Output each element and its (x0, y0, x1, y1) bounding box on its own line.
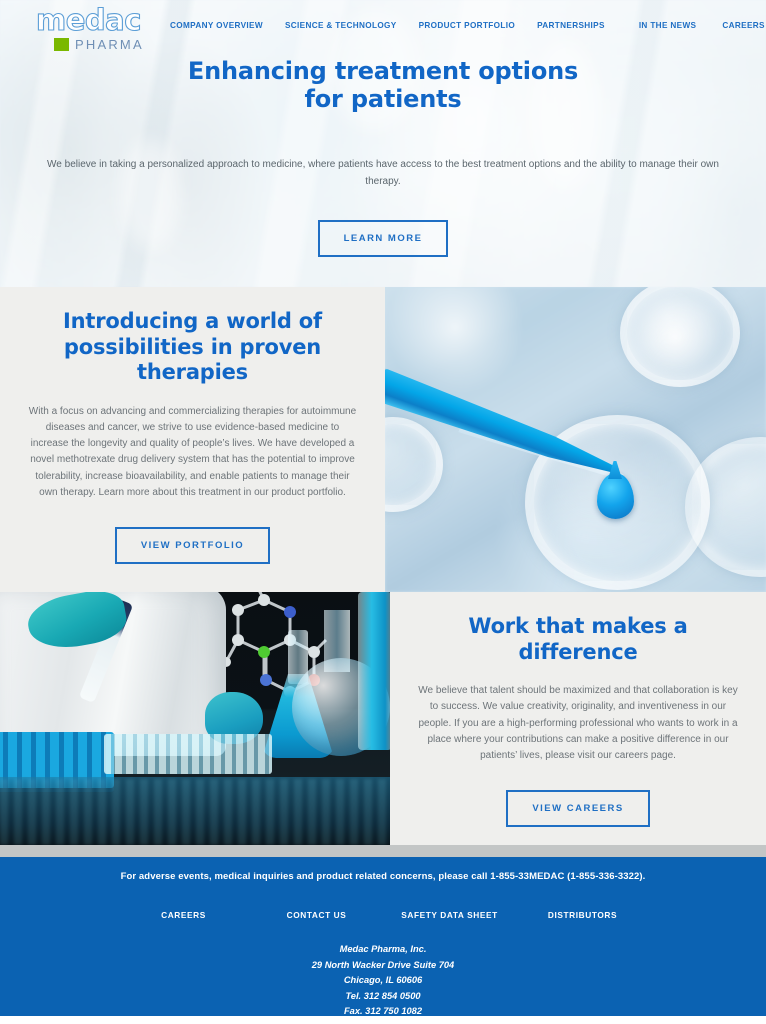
section-divider (0, 845, 766, 857)
page-root: medac PHARMA COMPANY OVERVIEW SCIENCE & … (0, 0, 766, 1024)
careers-text-column: Work that makes a difference We believe … (390, 592, 766, 845)
site-header: medac PHARMA COMPANY OVERVIEW SCIENCE & … (0, 0, 766, 52)
portfolio-image (385, 287, 766, 592)
brand-logo-pharma-text: PHARMA (75, 37, 144, 52)
brand-green-square-icon (54, 38, 69, 51)
nav-item-science-technology[interactable]: SCIENCE & TECHNOLOGY (285, 19, 397, 32)
nav-item-partnerships[interactable]: PARTNERSHIPS (537, 19, 605, 32)
footer-link-careers[interactable]: CAREERS (117, 910, 250, 920)
nav-item-in-the-news[interactable]: IN THE NEWS (639, 19, 697, 32)
hero-cta-wrap: LEARN MORE (0, 220, 766, 257)
view-careers-button[interactable]: VIEW CAREERS (506, 790, 649, 827)
portfolio-title: Introducing a world of possibilities in … (38, 309, 348, 386)
careers-title: Work that makes a difference (423, 614, 733, 665)
nav-item-product-portfolio[interactable]: PRODUCT PORTFOLIO (419, 19, 515, 32)
careers-section: Work that makes a difference We believe … (0, 592, 766, 845)
footer-fax: Fax. 312 750 1082 (0, 1004, 766, 1020)
brand-logo-subrow: PHARMA (54, 37, 148, 52)
portfolio-section: Introducing a world of possibilities in … (0, 287, 766, 592)
footer-city-state-zip: Chicago, IL 60606 (0, 973, 766, 989)
careers-image (0, 592, 390, 845)
hero-section: medac PHARMA COMPANY OVERVIEW SCIENCE & … (0, 0, 766, 287)
nav-item-company-overview[interactable]: COMPANY OVERVIEW (170, 19, 263, 32)
view-portfolio-button[interactable]: VIEW PORTFOLIO (115, 527, 270, 564)
footer-adverse-events-notice: For adverse events, medical inquiries an… (0, 871, 766, 882)
portfolio-text-column: Introducing a world of possibilities in … (0, 287, 385, 592)
site-footer: For adverse events, medical inquiries an… (0, 857, 766, 1016)
careers-body: We believe that talent should be maximiz… (413, 683, 743, 764)
footer-telephone: Tel. 312 854 0500 (0, 989, 766, 1005)
footer-address-block: Medac Pharma, Inc. 29 North Wacker Drive… (0, 942, 766, 1020)
hero-title: Enhancing treatment options for patients (168, 58, 598, 114)
hero-subtitle: We believe in taking a personalized appr… (38, 156, 728, 190)
lab-bench-reflection (0, 779, 390, 845)
portfolio-cta-wrap: VIEW PORTFOLIO (18, 527, 367, 564)
footer-link-row: CAREERS CONTACT US SAFETY DATA SHEET DIS… (0, 910, 766, 920)
brand-logo-wordmark: medac (36, 6, 148, 35)
nav-item-careers[interactable]: CAREERS (722, 19, 764, 32)
main-navigation: COMPANY OVERVIEW SCIENCE & TECHNOLOGY PR… (170, 19, 766, 32)
portfolio-body: With a focus on advancing and commercial… (28, 404, 358, 501)
brand-logo[interactable]: medac PHARMA (36, 6, 148, 52)
footer-street: 29 North Wacker Drive Suite 704 (0, 958, 766, 974)
footer-link-safety-data-sheet[interactable]: SAFETY DATA SHEET (383, 910, 516, 920)
footer-company-name: Medac Pharma, Inc. (0, 942, 766, 958)
footer-link-distributors[interactable]: DISTRIBUTORS (516, 910, 649, 920)
graduated-cylinder-icon (358, 592, 390, 750)
footer-link-contact-us[interactable]: CONTACT US (250, 910, 383, 920)
careers-cta-wrap: VIEW CAREERS (406, 790, 750, 827)
learn-more-button[interactable]: LEARN MORE (318, 220, 449, 257)
test-tube-row-icon (104, 734, 272, 774)
